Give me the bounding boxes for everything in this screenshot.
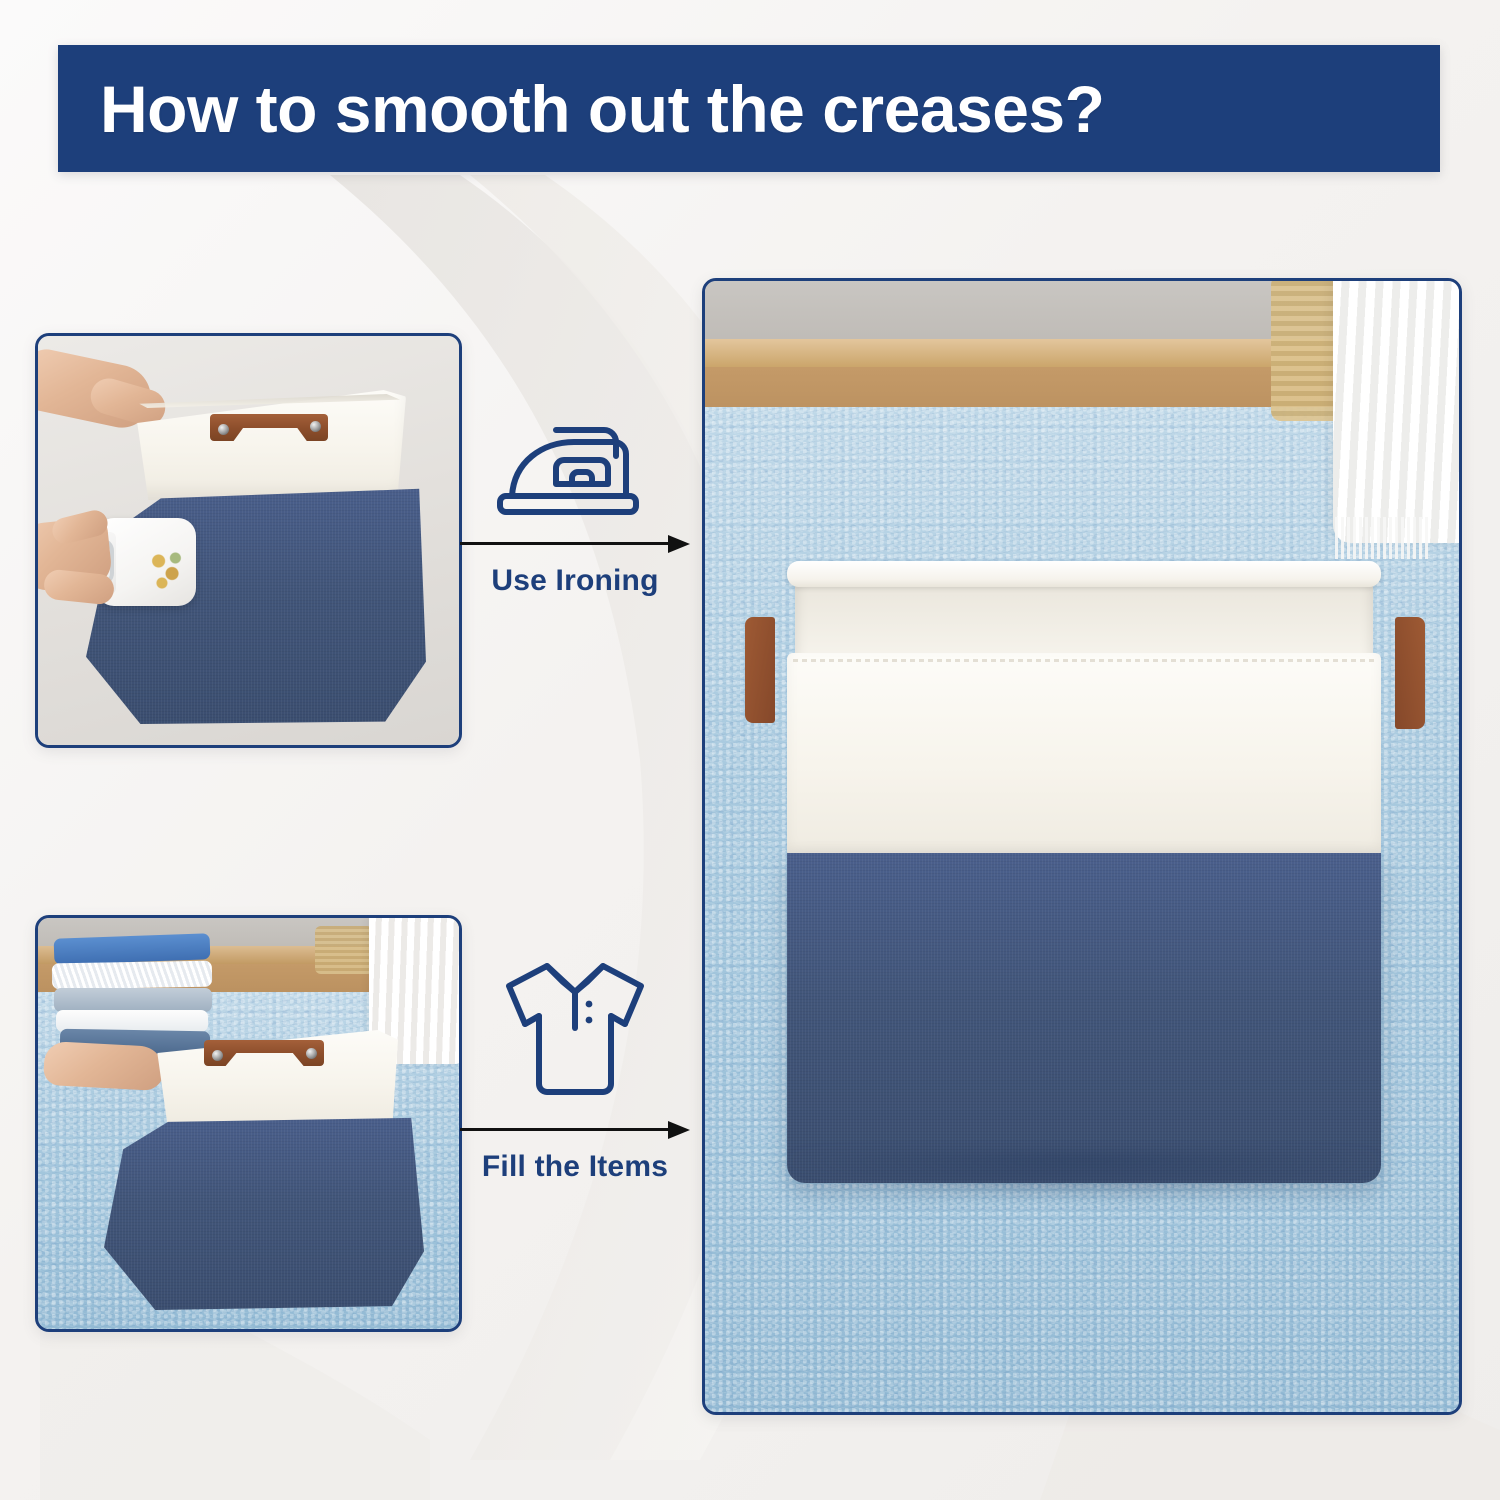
polo-shirt-icon: [485, 952, 665, 1112]
basket-navy-front: [787, 853, 1381, 1183]
leather-handle-left: [745, 617, 775, 723]
step-fill-the-items: Fill the Items: [452, 952, 698, 1184]
step-use-ironing: Use Ironing: [452, 418, 698, 598]
folded-towel-white: [52, 961, 212, 990]
hand-holding-laundry: [43, 1041, 165, 1091]
handle-rivet-right: [306, 1048, 317, 1059]
handle-rivet-left: [218, 424, 229, 435]
page-title-banner: How to smooth out the creases?: [58, 45, 1440, 172]
arrow-right-icon: [452, 1120, 698, 1138]
basket-navy-shadow: [787, 1151, 1381, 1197]
arrow-line: [460, 1128, 672, 1131]
folded-towel-blue: [54, 933, 211, 964]
step-label-use-ironing: Use Ironing: [491, 564, 658, 598]
basket-cream-front: [787, 653, 1381, 857]
arrow-head: [668, 535, 690, 553]
arrow-right-icon: [452, 534, 698, 552]
handle-rivet-right: [310, 421, 321, 432]
basket-navy-body: [104, 1114, 424, 1310]
basket-rim: [787, 561, 1381, 587]
leather-handle-right: [1395, 617, 1425, 729]
white-curtain: [1333, 278, 1462, 543]
iron-floral-decal: [146, 546, 188, 596]
ironing-scene: [38, 336, 459, 745]
page-title: How to smooth out the creases?: [100, 76, 1104, 142]
folded-towel-grey: [54, 988, 212, 1012]
curtain-fringe: [1335, 517, 1431, 559]
basket-cream-seam: [793, 659, 1375, 662]
iron-icon: [490, 418, 660, 526]
photo-filling-basket: [35, 915, 462, 1332]
photo-ironing-basket: [35, 333, 462, 748]
filling-scene: [38, 918, 459, 1329]
arrow-head: [668, 1121, 690, 1139]
woven-basket-background: [315, 926, 373, 974]
handle-rivet-left: [212, 1050, 223, 1061]
finished-basket-scene: [705, 281, 1459, 1412]
arrow-line: [460, 542, 672, 545]
step-label-fill-the-items: Fill the Items: [482, 1150, 668, 1184]
photo-finished-basket: [702, 278, 1462, 1415]
